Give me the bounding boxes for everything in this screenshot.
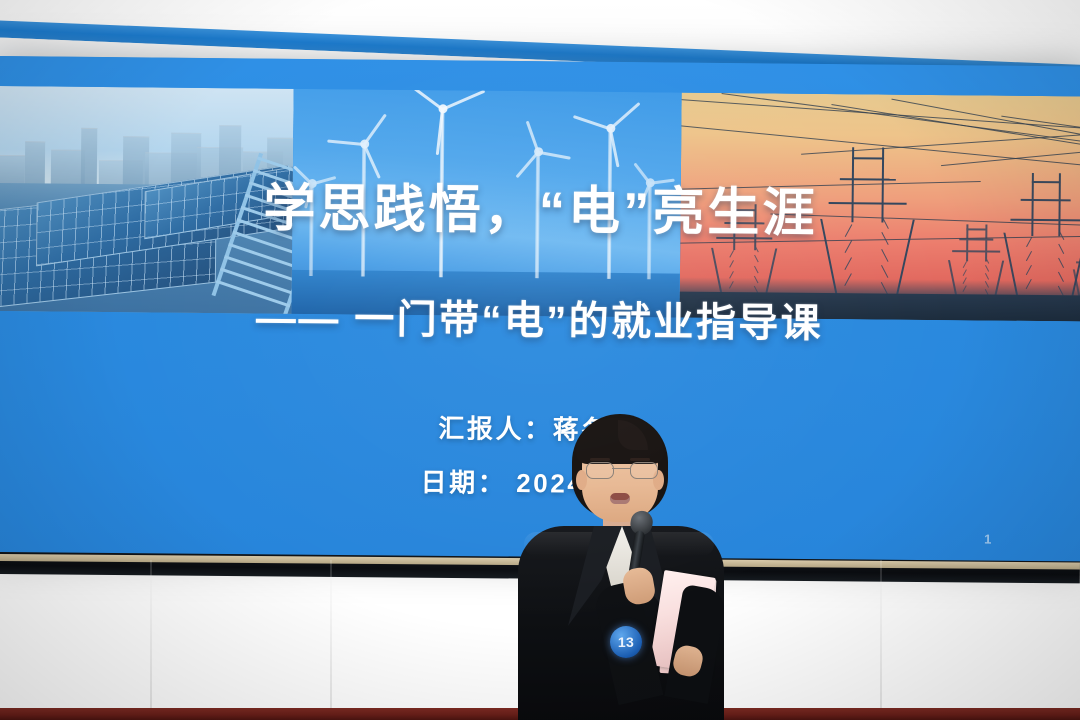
number-badge: 13 bbox=[610, 626, 642, 658]
slide-title: 学思践悟，“电”亮生涯 bbox=[0, 180, 1080, 242]
slide-page-number: 1 bbox=[984, 532, 991, 547]
speaker-figure: 13 bbox=[506, 414, 736, 720]
mouth bbox=[610, 493, 630, 504]
badge-number: 13 bbox=[618, 634, 634, 650]
presentation-photo: 学思践悟，“电”亮生涯 —— 一门带“电”的就业指导课 汇报人：蒋冬连 日期： … bbox=[0, 0, 1080, 720]
glasses-icon bbox=[586, 462, 656, 478]
